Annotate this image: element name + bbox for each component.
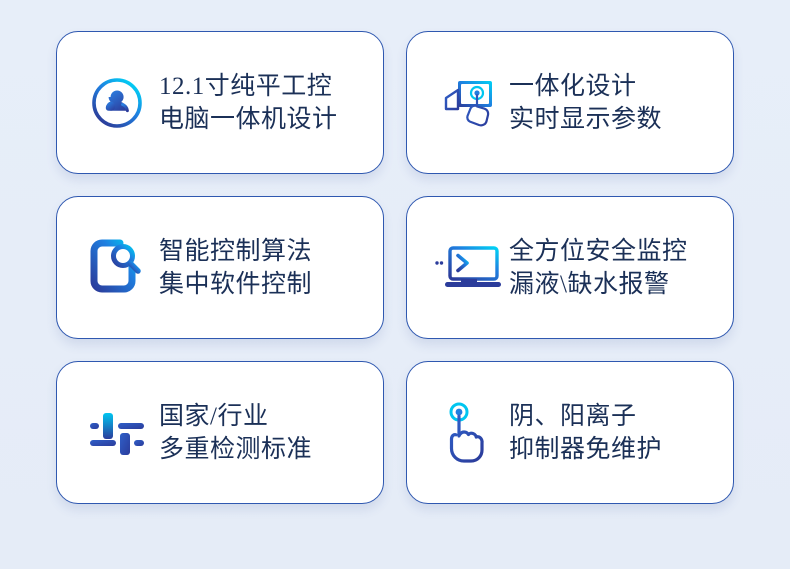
- feature-card-grid: 12.1寸纯平工控 电脑一体机设计: [56, 31, 734, 504]
- feature-line-1: 阴、阳离子: [509, 400, 723, 433]
- feature-line-2: 电脑一体机设计: [159, 103, 373, 136]
- touchscreen-hand-tap-icon: [429, 76, 505, 130]
- feature-card[interactable]: 智能控制算法 集中软件控制: [56, 196, 384, 339]
- document-magnifier-icon: [79, 239, 155, 297]
- feature-card-text: 国家/行业 多重检测标准: [155, 400, 383, 466]
- feature-line-2: 漏液\缺水报警: [509, 268, 723, 301]
- feature-line-2: 抑制器免维护: [509, 433, 723, 466]
- feature-card[interactable]: 全方位安全监控 漏液\缺水报警: [406, 196, 734, 339]
- feature-card[interactable]: 国家/行业 多重检测标准: [56, 361, 384, 504]
- feature-card[interactable]: 12.1寸纯平工控 电脑一体机设计: [56, 31, 384, 174]
- sliders-settings-icon: [79, 409, 155, 457]
- feature-line-2: 集中软件控制: [159, 268, 373, 301]
- feature-card-text: 阴、阳离子 抑制器免维护: [505, 400, 733, 466]
- feature-line-2: 多重检测标准: [159, 433, 373, 466]
- feature-line-1: 智能控制算法: [159, 235, 373, 268]
- feature-card-text: 12.1寸纯平工控 电脑一体机设计: [155, 70, 383, 136]
- feature-line-1: 全方位安全监控: [509, 235, 723, 268]
- feature-card-text: 全方位安全监控 漏液\缺水报警: [505, 235, 733, 301]
- feature-line-1: 一体化设计: [509, 70, 723, 103]
- feature-card-text: 智能控制算法 集中软件控制: [155, 235, 383, 301]
- feature-grid-page: 12.1寸纯平工控 电脑一体机设计: [0, 0, 790, 569]
- feature-card-text: 一体化设计 实时显示参数: [505, 70, 733, 136]
- feature-line-2: 实时显示参数: [509, 103, 723, 136]
- hand-tap-pointer-icon: [429, 401, 505, 465]
- feature-line-1: 12.1寸纯平工控: [159, 70, 373, 103]
- laptop-arrow-in-icon: [429, 243, 505, 293]
- headset-avatar-circle-icon: [79, 75, 155, 131]
- feature-line-1: 国家/行业: [159, 400, 373, 433]
- feature-card[interactable]: 一体化设计 实时显示参数: [406, 31, 734, 174]
- feature-card[interactable]: 阴、阳离子 抑制器免维护: [406, 361, 734, 504]
